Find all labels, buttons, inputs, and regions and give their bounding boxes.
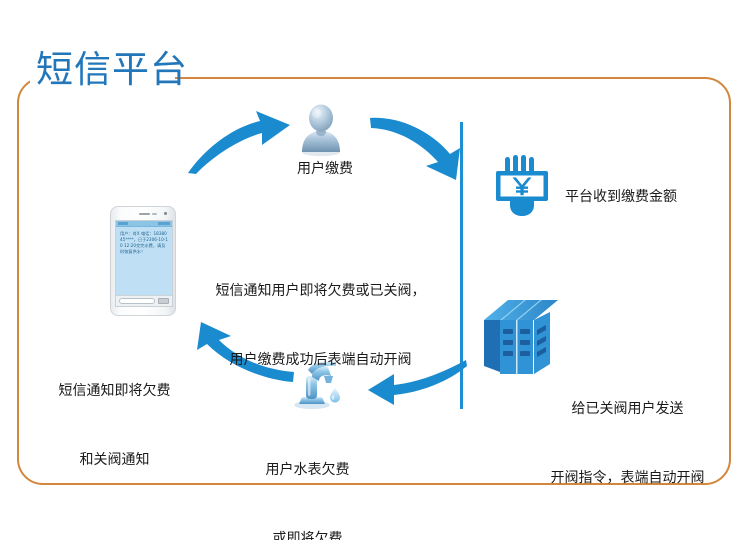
phone-camera-icon — [164, 212, 167, 215]
label-valve-open-line1: 给已关阀用户发送 — [505, 398, 750, 421]
label-valve-open-line2: 开阀指令，表端自动开阀 — [505, 467, 750, 490]
label-valve-open-command: 给已关阀用户发送 开阀指令，表端自动开阀 — [505, 352, 750, 536]
label-meter-owing-line2: 或即将欠费 — [230, 528, 385, 540]
label-meter-owing-line1: 用户水表欠费 — [230, 459, 385, 482]
phone-body: 用户：肖X 电话：1838045****，已于2306-10-10 12:20交… — [110, 206, 176, 316]
label-center-note-line2: 用户缴费成功后表端自动开阀 — [188, 349, 453, 372]
label-sms-notice: 短信通知即将欠费 和关阀通知 — [42, 334, 187, 518]
label-meter-owing: 用户水表欠费 或即将欠费 — [230, 413, 385, 540]
sms-input-field[interactable] — [119, 298, 155, 304]
phone-speaker — [139, 213, 150, 215]
sms-send-button[interactable] — [158, 298, 169, 304]
label-center-note: 短信通知用户即将欠费或已关阀， 用户缴费成功后表端自动开阀 — [188, 234, 453, 418]
label-platform-received: 平台收到缴费金额 — [565, 187, 745, 208]
payment-terminal-yen-icon — [490, 155, 554, 217]
user-avatar-icon — [293, 102, 349, 158]
curved-arrow-down-right-icon — [370, 108, 474, 180]
phone-input-bar — [116, 295, 172, 306]
label-sms-notice-line1: 短信通知即将欠费 — [42, 380, 187, 403]
label-user-payment: 用户缴费 — [270, 159, 380, 180]
status-bar-battery-icon — [158, 222, 170, 225]
page-title: 短信平台 — [36, 48, 188, 91]
phone-sensor — [152, 213, 157, 215]
label-sms-notice-line2: 和关阀通知 — [42, 449, 187, 472]
sms-message-text: 用户：肖X 电话：1838045****，已于2306-10-10 12:20交… — [120, 231, 168, 255]
diagram-canvas: 短信平台 用户：肖X 电话：1838045****，已于2306-10-10 1… — [0, 0, 750, 540]
smartphone-illustration: 用户：肖X 电话：1838045****，已于2306-10-10 12:20交… — [110, 206, 176, 316]
label-center-note-line1: 短信通知用户即将欠费或已关阀， — [188, 280, 453, 303]
status-bar-signal-icon — [118, 222, 128, 225]
phone-status-bar — [116, 221, 172, 227]
phone-screen: 用户：肖X 电话：1838045****，已于2306-10-10 12:20交… — [115, 220, 173, 307]
